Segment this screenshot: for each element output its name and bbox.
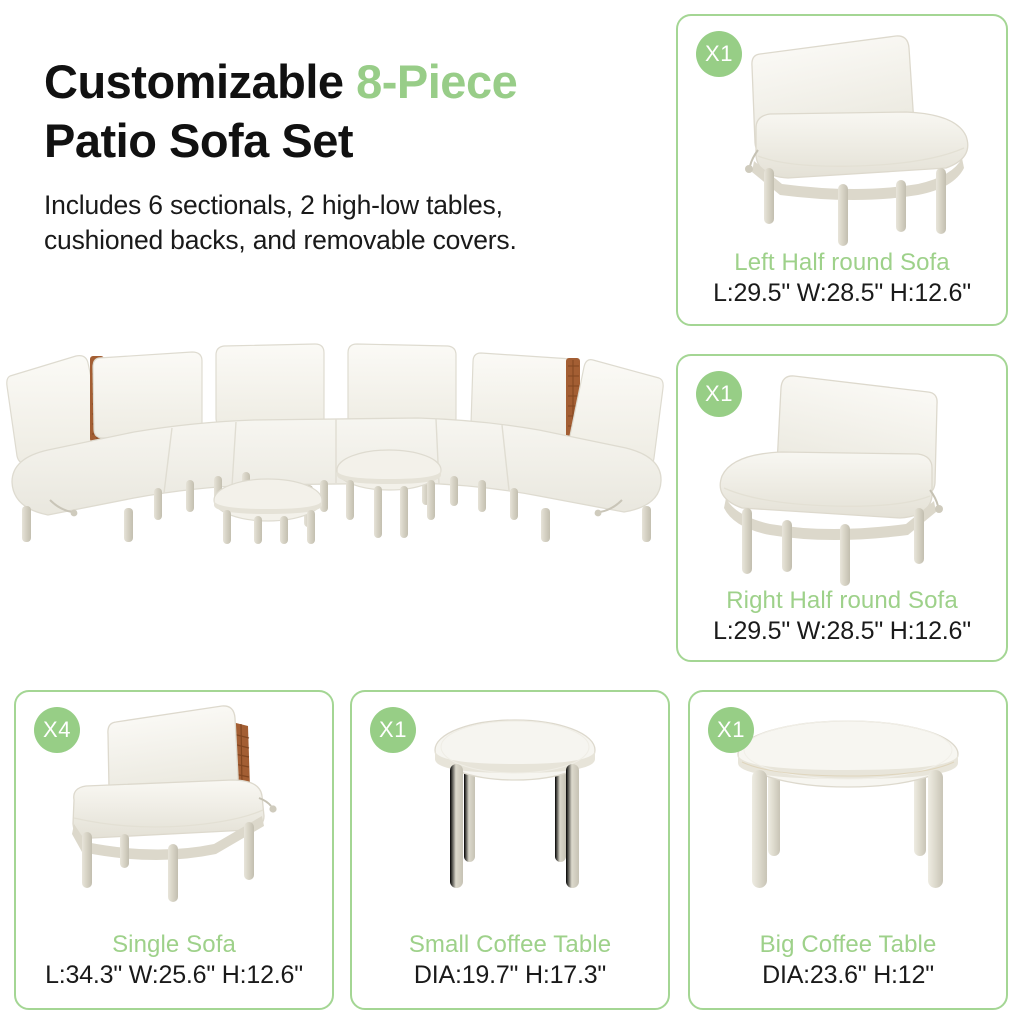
product-name: Left Half round Sofa xyxy=(678,249,1006,277)
product-dimensions: DIA:19.7" H:17.3" xyxy=(352,961,668,990)
card-caption: Big Coffee Table DIA:23.6" H:12" xyxy=(690,931,1006,990)
back-cushion-4 xyxy=(348,344,456,427)
product-name: Right Half round Sofa xyxy=(678,587,1006,615)
headline-block: Customizable 8-Piece Patio Sofa Set Incl… xyxy=(44,52,654,258)
quantity-badge: X1 xyxy=(370,707,416,753)
card-caption: Single Sofa L:34.3" W:25.6" H:12.6" xyxy=(16,931,332,990)
title-line1-accent: 8-Piece xyxy=(356,55,517,108)
quantity-badge: X4 xyxy=(34,707,80,753)
table-top xyxy=(738,721,958,787)
sofa-set-illustration xyxy=(4,330,668,545)
quantity-badge: X1 xyxy=(708,707,754,753)
product-card-left-half-round-sofa[interactable]: X1 xyxy=(676,14,1008,326)
subtitle-line2: cushioned backs, and removable covers. xyxy=(44,225,517,255)
product-dimensions: DIA:23.6" H:12" xyxy=(690,961,1006,990)
back-cushion-3 xyxy=(216,344,324,427)
product-dimensions: L:29.5" W:28.5" H:12.6" xyxy=(678,617,1006,646)
product-card-big-coffee-table[interactable]: X1 xyxy=(688,690,1008,1010)
subtitle-line1: Includes 6 sectionals, 2 high-low tables… xyxy=(44,190,503,220)
quantity-badge: X1 xyxy=(696,31,742,77)
product-card-small-coffee-table[interactable]: X1 xyxy=(350,690,670,1010)
seat-cushion xyxy=(720,452,932,518)
page-title: Customizable 8-Piece Patio Sofa Set xyxy=(44,52,654,170)
product-name: Single Sofa xyxy=(16,931,332,959)
subtitle: Includes 6 sectionals, 2 high-low tables… xyxy=(44,188,654,258)
product-infographic: Customizable 8-Piece Patio Sofa Set Incl… xyxy=(0,0,1024,1024)
seat-cushion xyxy=(73,780,264,838)
seat-cushion xyxy=(756,112,968,178)
product-card-right-half-round-sofa[interactable]: X1 xyxy=(676,354,1008,662)
hero-small-coffee-table xyxy=(214,479,322,544)
quantity-badge: X1 xyxy=(696,371,742,417)
product-name: Small Coffee Table xyxy=(352,931,668,959)
hero-sofa-set-image xyxy=(4,330,668,545)
card-caption: Small Coffee Table DIA:19.7" H:17.3" xyxy=(352,931,668,990)
legs xyxy=(742,508,924,586)
title-line1-plain: Customizable xyxy=(44,55,356,108)
product-dimensions: L:29.5" W:28.5" H:12.6" xyxy=(678,279,1006,308)
product-dimensions: L:34.3" W:25.6" H:12.6" xyxy=(16,961,332,990)
product-card-single-sofa[interactable]: X4 xyxy=(14,690,334,1010)
card-caption: Left Half round Sofa L:29.5" W:28.5" H:1… xyxy=(678,249,1006,308)
product-name: Big Coffee Table xyxy=(690,931,1006,959)
card-caption: Right Half round Sofa L:29.5" W:28.5" H:… xyxy=(678,587,1006,646)
title-line2: Patio Sofa Set xyxy=(44,114,353,167)
legs xyxy=(764,168,946,246)
